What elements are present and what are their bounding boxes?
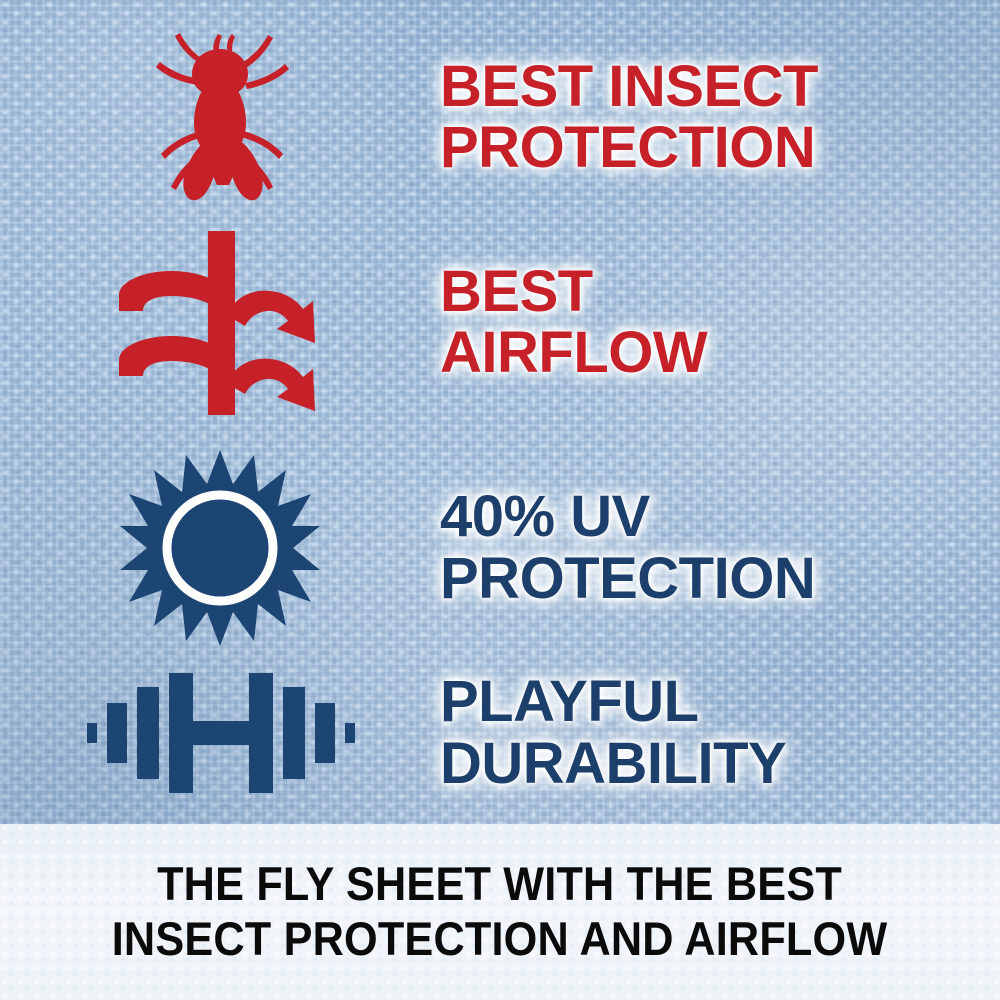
text-cell-uv-protection: 40% UV PROTECTION xyxy=(440,486,1000,609)
feature-label-durability: PLAYFUL DURABILITY xyxy=(440,671,1000,794)
feature-row-insect-protection: BEST INSECT PROTECTION xyxy=(0,22,1000,212)
sun-uv-icon xyxy=(120,448,320,648)
icon-cell-durability xyxy=(0,663,440,803)
icon-cell-uv-protection xyxy=(0,448,440,648)
text-cell-insect-protection: BEST INSECT PROTECTION xyxy=(440,56,1000,179)
airflow-arrows-icon xyxy=(105,225,335,420)
text-cell-durability: PLAYFUL DURABILITY xyxy=(440,671,1000,794)
caption-strip: THE FLY SHEET WITH THE BEST INSECT PROTE… xyxy=(0,824,1000,1000)
feature-label-insect-protection: BEST INSECT PROTECTION xyxy=(440,56,1000,179)
feature-label-uv-protection: 40% UV PROTECTION xyxy=(440,486,1000,609)
feature-row-durability: PLAYFUL DURABILITY xyxy=(0,650,1000,815)
fly-icon xyxy=(135,27,305,207)
icon-cell-airflow xyxy=(0,225,440,420)
dumbbell-icon xyxy=(85,663,355,803)
infographic-poster: BEST INSECT PROTECTION xyxy=(0,0,1000,1000)
text-cell-airflow: BEST AIRFLOW xyxy=(440,261,1000,384)
icon-cell-insect-protection xyxy=(0,27,440,207)
caption-headline: THE FLY SHEET WITH THE BEST INSECT PROTE… xyxy=(112,857,888,967)
feature-label-airflow: BEST AIRFLOW xyxy=(440,261,1000,384)
feature-row-uv-protection: 40% UV PROTECTION xyxy=(0,440,1000,655)
feature-row-airflow: BEST AIRFLOW xyxy=(0,222,1000,422)
